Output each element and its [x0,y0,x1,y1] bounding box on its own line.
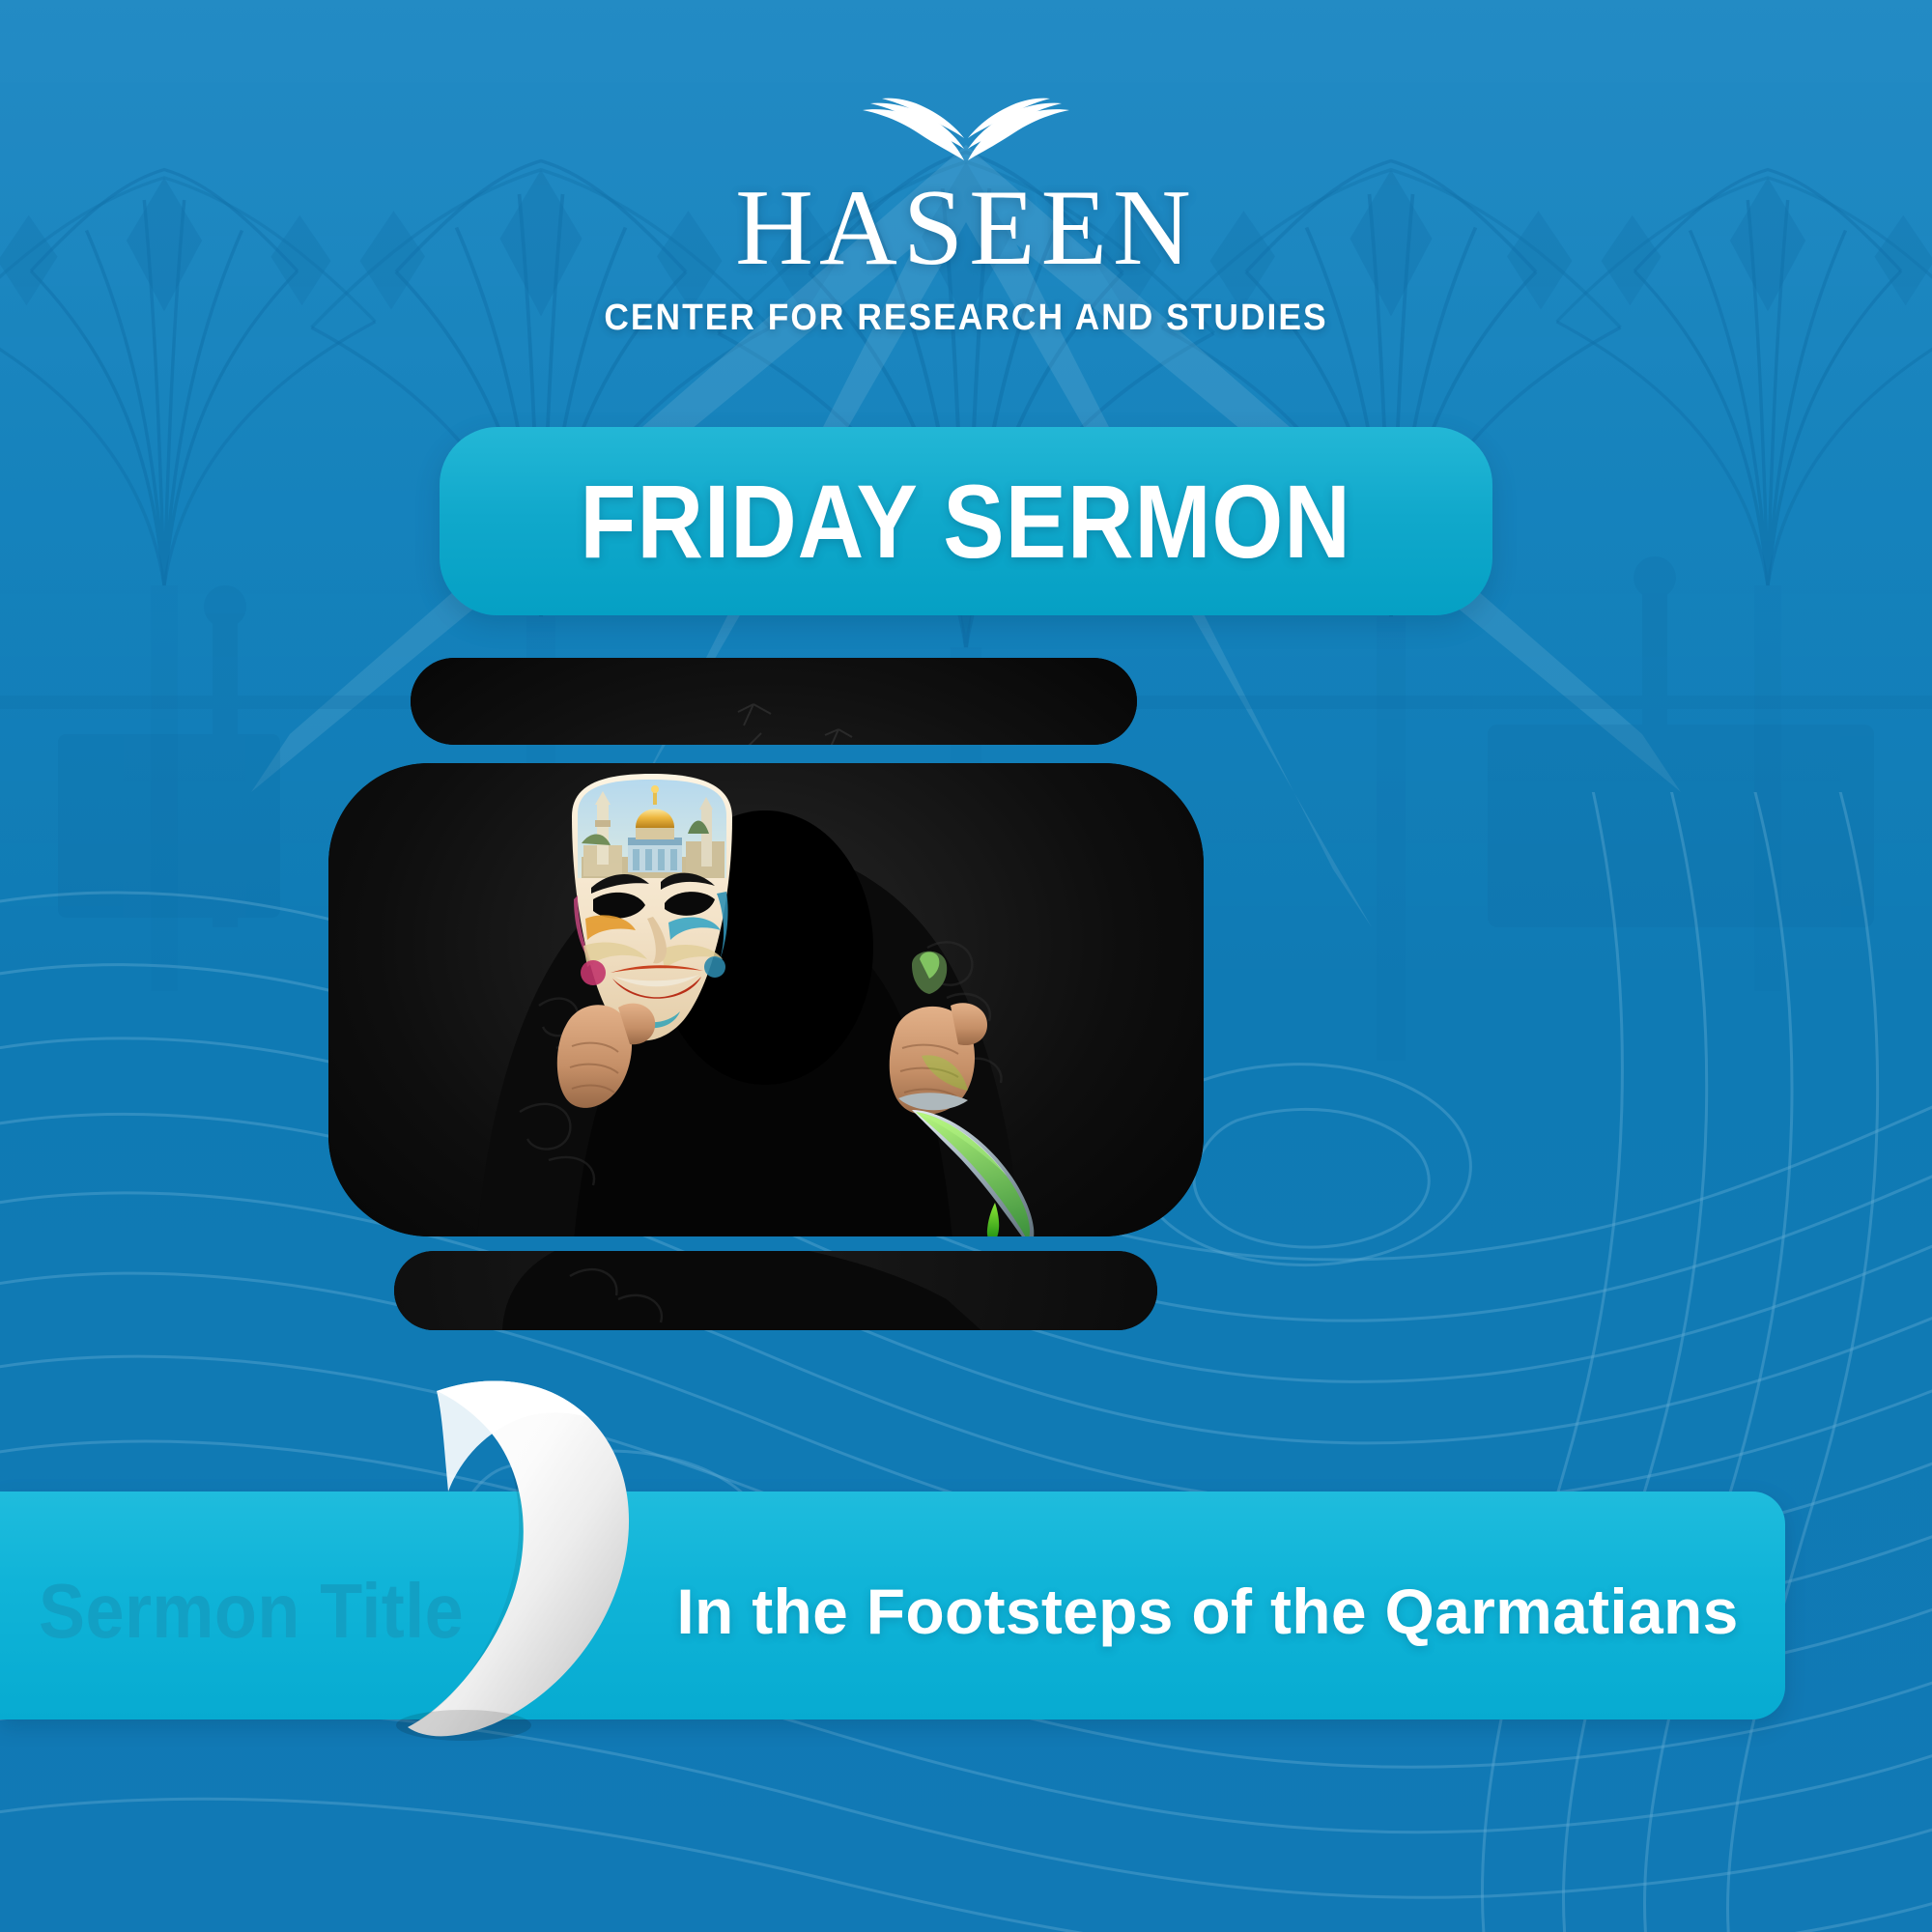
friday-sermon-label: FRIDAY SERMON [581,461,1351,582]
friday-sermon-banner: FRIDAY SERMON [440,427,1492,615]
brand-tagline: CENTER FOR RESEARCH AND STUDIES [68,298,1864,339]
brand-name: HASEEN [0,174,1932,282]
poster-canvas: HASEEN CENTER FOR RESEARCH AND STUDIES F… [0,0,1932,1932]
topographic-line-pattern [0,792,1932,1932]
open-book-icon [855,93,1077,162]
brand-logo: HASEEN CENTER FOR RESEARCH AND STUDIES [0,93,1932,339]
sermon-title-value: In the Footsteps of the Qarmatians [667,1575,1748,1648]
page-curl-icon [348,1378,667,1783]
sermon-title-band: Sermon Title [0,1492,1932,1719]
